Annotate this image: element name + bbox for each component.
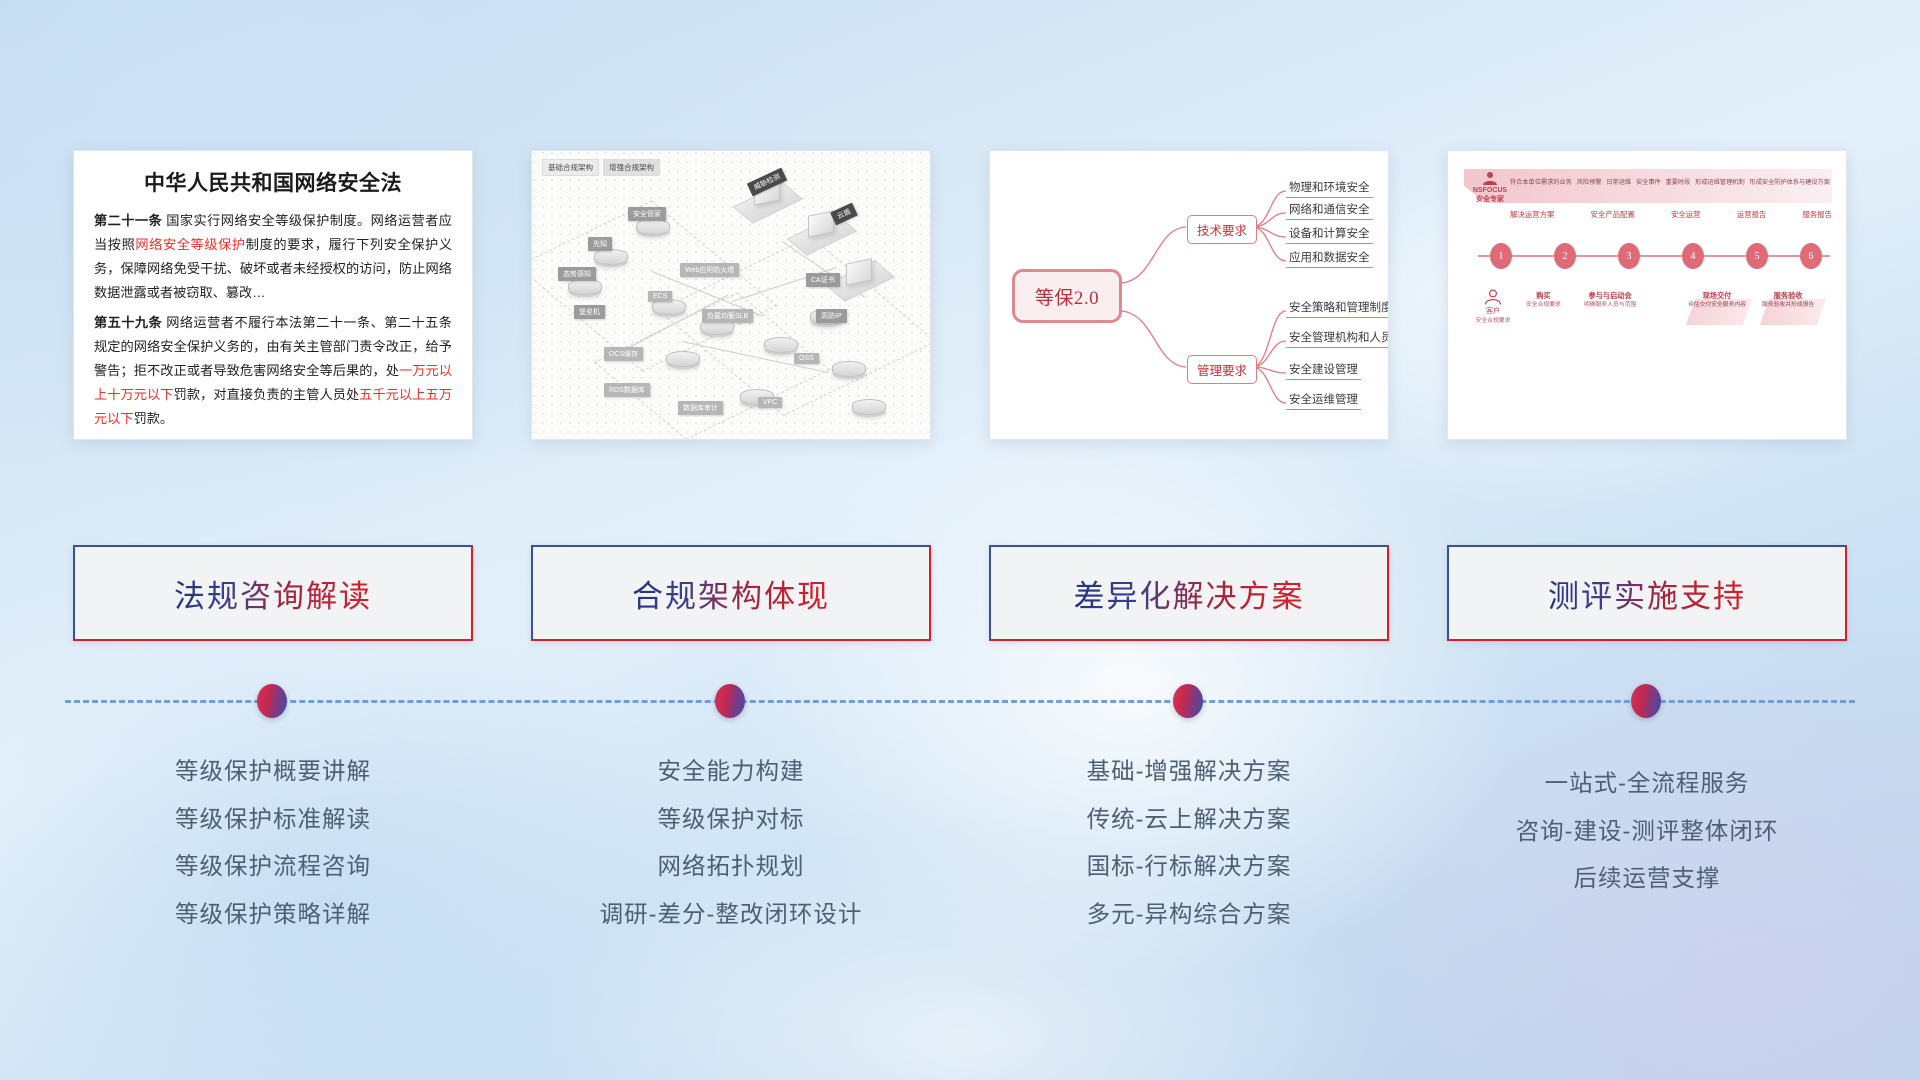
architecture-cylinder-11 — [852, 399, 886, 415]
architecture-node-anti-ddos-ip: 高防IP — [816, 309, 847, 323]
roadmap-tag-purchase-sub: 安全合规要求 — [1526, 301, 1561, 309]
list-item: 等级保护标准解读 — [73, 796, 473, 844]
roadmap-header-banner — [1464, 169, 1832, 203]
list-item: 后续运营支撑 — [1447, 855, 1847, 903]
roadmap-canvas: NSFOCUS 安全专家 符合本单位需求的业务 风险预警 日常运维 安全事件 重… — [1448, 151, 1846, 439]
mindmap-leaf-ops-mgmt: 安全运维管理 — [1286, 391, 1361, 410]
label-text-differentiated-solution: 差异化解决方案 — [1074, 571, 1305, 616]
roadmap-sub-item-2: 安全产品配置 — [1590, 209, 1634, 220]
detail-list-assessment-support: 一站式-全流程服务 咨询-建设-测评整体闭环 后续运营支撑 — [1447, 738, 1847, 938]
mindmap-branch-technical: 技术要求 — [1187, 215, 1257, 244]
roadmap-header-item-4: 安全事件 — [1636, 177, 1661, 186]
roadmap-tag-acceptance-sub: 服务验收并形成报告 — [1762, 301, 1814, 309]
mindmap-leaf-org-personnel: 安全管理机构和人员 — [1286, 329, 1389, 348]
roadmap-logo: NSFOCUS 安全专家 — [1468, 171, 1512, 205]
mindmap-leaf-physical-env: 物理和环境安全 — [1286, 179, 1373, 198]
architecture-node-ca-certificate: CA证书 — [806, 273, 840, 287]
roadmap-header-item-7: 形成安全防护体系与建设方案 — [1750, 177, 1830, 186]
law-article-59-part2: 罚款，对直接负责的主管人员处 — [174, 387, 360, 402]
detail-list-regulation-consulting: 等级保护概要讲解 等级保护标准解读 等级保护流程咨询 等级保护策略详解 — [73, 738, 473, 938]
roadmap-sub-item-4: 运营报告 — [1737, 209, 1767, 220]
architecture-cylinder-1 — [636, 219, 670, 235]
timeline-dot-1[interactable] — [257, 684, 287, 718]
architecture-node-oss: OSS — [794, 353, 819, 364]
list-item: 多元-异构综合方案 — [989, 891, 1389, 939]
law-article-21-highlight: 网络安全等级保护 — [135, 237, 245, 252]
roadmap-tag-kickoff: 参与与启动会 明确服务人员与范围 — [1584, 291, 1636, 310]
detail-list-compliance-architecture: 安全能力构建 等级保护对标 网络拓扑规划 调研-差分-整改闭环设计 — [531, 738, 931, 938]
roadmap-header-item-3: 日常运维 — [1606, 177, 1631, 186]
label-text-compliance-architecture: 合规架构体现 — [632, 571, 830, 616]
architecture-node-situational-awareness: 态势感知 — [558, 267, 596, 281]
architecture-node-web-app-firewall: Web应用防火墙 — [680, 263, 739, 277]
architecture-tab-group[interactable]: 基础合规架构 增强合规架构 — [542, 159, 660, 176]
roadmap-header-item-5: 重要时段 — [1666, 177, 1691, 186]
mindmap-leaf-network-comm: 网络和通信安全 — [1286, 201, 1373, 220]
customer-icon — [1483, 289, 1503, 305]
architecture-node-slb: 负载均衡SLB — [702, 309, 753, 323]
roadmap-tag-acceptance-title: 服务验收 — [1762, 291, 1814, 301]
roadmap-sub-item-5: 服务报告 — [1802, 209, 1832, 220]
mindmap-leaf-device-compute: 设备和计算安全 — [1286, 225, 1373, 244]
law-card-body: 中华人民共和国网络安全法 第二十一条 国家实行网络安全等级保护制度。网络运营者应… — [74, 151, 472, 440]
label-text-assessment-support: 测评实施支持 — [1548, 571, 1746, 616]
architecture-node-ocs-cache: OCS缓存 — [604, 347, 643, 361]
list-item: 等级保护流程咨询 — [73, 843, 473, 891]
label-box-assessment-support[interactable]: 测评实施支持 — [1447, 545, 1847, 641]
card-service-roadmap[interactable]: NSFOCUS 安全专家 符合本单位需求的业务 风险预警 日常运维 安全事件 重… — [1447, 150, 1847, 440]
mindmap-leaf-policy-system: 安全策略和管理制度 — [1286, 299, 1389, 318]
roadmap-sub-items: 解决运营方案 安全产品配置 安全运营 运营报告 服务报告 — [1510, 209, 1832, 220]
roadmap-node-5: 5 — [1746, 243, 1768, 269]
roadmap-header-item-2: 风险预警 — [1577, 177, 1602, 186]
thumbnail-card-row: 中华人民共和国网络安全法 第二十一条 国家实行网络安全等级保护制度。网络运营者应… — [0, 150, 1920, 440]
category-label-row: 法规咨询解读 合规架构体现 差异化解决方案 测评实施支持 — [0, 545, 1920, 641]
list-item: 一站式-全流程服务 — [1447, 760, 1847, 808]
card-cybersecurity-law[interactable]: 中华人民共和国网络安全法 第二十一条 国家实行网络安全等级保护制度。网络运营者应… — [73, 150, 473, 440]
roadmap-node-2: 2 — [1554, 243, 1576, 269]
architecture-node-vpc: VPC — [758, 397, 782, 408]
roadmap-logo-line2: 安全专家 — [1468, 195, 1512, 204]
law-title: 中华人民共和国网络安全法 — [94, 167, 452, 197]
list-item: 基础-增强解决方案 — [989, 748, 1389, 796]
law-article-59-part3: 罚款。 — [134, 411, 174, 426]
architecture-node-db-audit: 数据库审计 — [678, 401, 723, 415]
list-item: 咨询-建设-测评整体闭环 — [1447, 808, 1847, 856]
roadmap-tag-kickoff-sub: 明确服务人员与范围 — [1584, 301, 1636, 309]
roadmap-tag-acceptance: 服务验收 服务验收并形成报告 — [1762, 291, 1814, 310]
roadmap-logo-line1: NSFOCUS — [1468, 186, 1512, 195]
roadmap-header-item-6: 形成运维管理机制 — [1695, 177, 1745, 186]
detail-list-differentiated-solution: 基础-增强解决方案 传统-云上解决方案 国标-行标解决方案 多元-异构综合方案 — [989, 738, 1389, 938]
roadmap-customer: 客户 安全合规要求 — [1470, 289, 1516, 325]
list-item: 等级保护策略详解 — [73, 891, 473, 939]
card-dengbao-mindmap[interactable]: 等保2.0 技术要求 管理要求 物理和环境安全 网络和通信安全 设备和计算安全 … — [989, 150, 1389, 440]
list-item: 安全能力构建 — [531, 748, 931, 796]
architecture-node-xianzhi: 先知 — [588, 237, 612, 251]
architecture-node-ecs: ECS — [648, 291, 672, 302]
slide-root: 中华人民共和国网络安全法 第二十一条 国家实行网络安全等级保护制度。网络运营者应… — [0, 0, 1920, 1080]
timeline-dot-4[interactable] — [1631, 684, 1661, 718]
roadmap-tag-onsite-sub: 评估交付安全服务内容 — [1688, 301, 1746, 309]
roadmap-tag-purchase: 购买 安全合规要求 — [1526, 291, 1561, 310]
architecture-node-security-butler: 安全管家 — [628, 207, 666, 221]
mindmap-leaf-app-data: 应用和数据安全 — [1286, 249, 1373, 268]
mindmap-root-node: 等保2.0 — [1012, 269, 1122, 323]
architecture-node-bastion-host: 堡垒机 — [574, 305, 605, 319]
label-text-regulation-consulting: 法规咨询解读 — [174, 571, 372, 616]
roadmap-customer-sub: 安全合规要求 — [1470, 317, 1516, 325]
list-item: 传统-云上解决方案 — [989, 796, 1389, 844]
roadmap-header-item-1: 符合本单位需求的业务 — [1510, 177, 1572, 186]
law-article-21-label: 第二十一条 — [94, 213, 162, 228]
architecture-cylinder-6 — [666, 351, 700, 367]
roadmap-tag-onsite-title: 现场交付 — [1688, 291, 1746, 301]
law-article-21: 第二十一条 国家实行网络安全等级保护制度。网络运营者应当按照网络安全等级保护制度… — [94, 209, 452, 305]
list-item: 等级保护概要讲解 — [73, 748, 473, 796]
roadmap-customer-label: 客户 — [1470, 307, 1516, 317]
timeline-dot-3[interactable] — [1173, 684, 1203, 718]
architecture-tab-enhanced[interactable]: 增强合规架构 — [603, 159, 660, 176]
law-article-59-label: 第五十九条 — [94, 315, 162, 330]
mindmap-canvas: 等保2.0 技术要求 管理要求 物理和环境安全 网络和通信安全 设备和计算安全 … — [990, 151, 1388, 439]
list-item: 调研-差分-整改闭环设计 — [531, 891, 931, 939]
architecture-cylinder-3 — [568, 279, 602, 295]
roadmap-node-1: 1 — [1490, 243, 1512, 269]
roadmap-timeline-line — [1478, 255, 1830, 257]
card-compliance-architecture[interactable]: 基础合规架构 增强合规架构 — [531, 150, 931, 440]
architecture-cylinder-9 — [832, 361, 866, 377]
roadmap-tag-onsite: 现场交付 评估交付安全服务内容 — [1688, 291, 1746, 310]
list-item: 等级保护对标 — [531, 796, 931, 844]
timeline-dot-2[interactable] — [715, 684, 745, 718]
list-item: 网络拓扑规划 — [531, 843, 931, 891]
timeline-dashed-line — [65, 700, 1855, 703]
roadmap-node-6: 6 — [1800, 243, 1822, 269]
list-item: 国标-行标解决方案 — [989, 843, 1389, 891]
roadmap-sub-item-3: 安全运营 — [1671, 209, 1701, 220]
roadmap-tag-kickoff-title: 参与与启动会 — [1584, 291, 1636, 301]
architecture-diagram: 基础合规架构 增强合规架构 — [532, 151, 930, 439]
label-box-regulation-consulting[interactable]: 法规咨询解读 — [73, 545, 473, 641]
architecture-node-rds: RDS数据库 — [604, 383, 650, 397]
architecture-cylinder-2 — [594, 249, 628, 265]
label-box-compliance-architecture[interactable]: 合规架构体现 — [531, 545, 931, 641]
mindmap-leaf-construction-mgmt: 安全建设管理 — [1286, 361, 1361, 380]
label-box-differentiated-solution[interactable]: 差异化解决方案 — [989, 545, 1389, 641]
architecture-tab-basic[interactable]: 基础合规架构 — [542, 159, 599, 176]
mindmap-branch-management: 管理要求 — [1187, 355, 1257, 384]
law-article-59: 第五十九条 网络运营者不履行本法第二十一条、第二十五条规定的网络安全保护义务的，… — [94, 311, 452, 431]
roadmap-tag-purchase-title: 购买 — [1526, 291, 1561, 301]
person-icon — [1481, 171, 1499, 185]
architecture-cylinder-7 — [764, 337, 798, 353]
detail-list-row: 等级保护概要讲解 等级保护标准解读 等级保护流程咨询 等级保护策略详解 安全能力… — [0, 738, 1920, 938]
roadmap-header-items: 符合本单位需求的业务 风险预警 日常运维 安全事件 重要时段 形成运维管理机制 … — [1510, 177, 1830, 186]
roadmap-node-4: 4 — [1682, 243, 1704, 269]
roadmap-sub-item-1: 解决运营方案 — [1510, 209, 1554, 220]
roadmap-node-3: 3 — [1618, 243, 1640, 269]
